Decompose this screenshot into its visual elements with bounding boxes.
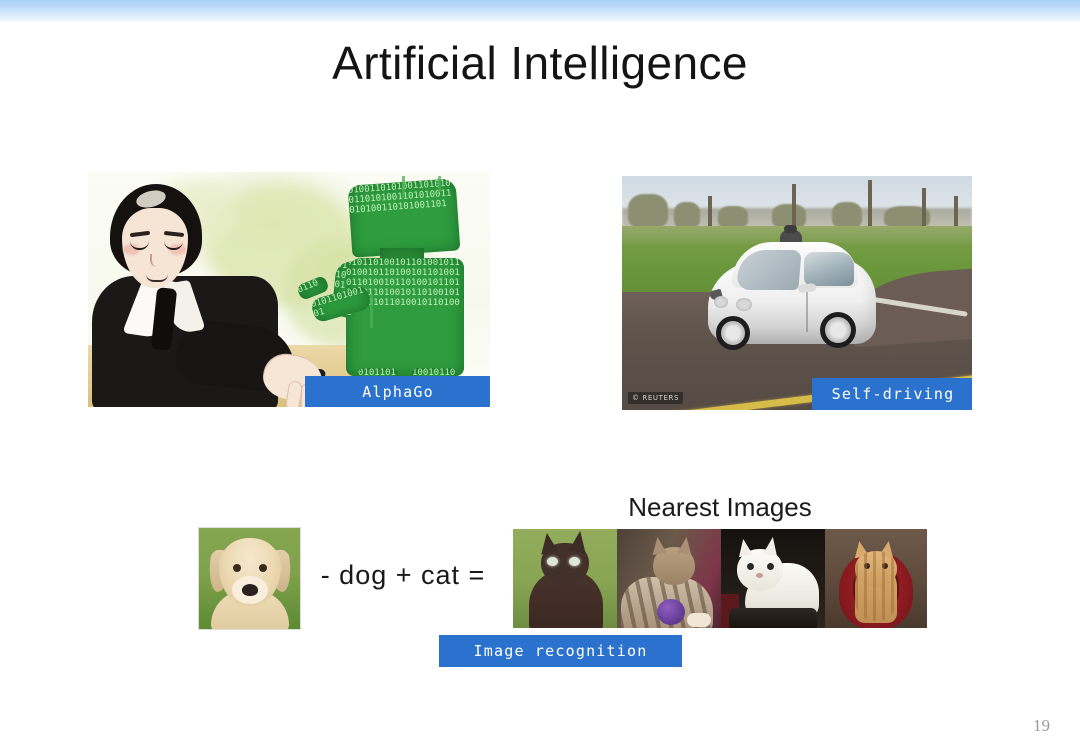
tree [832, 202, 862, 228]
slide-top-accent-band [0, 0, 1080, 22]
cat-eye [767, 563, 774, 570]
car-door-seam [806, 286, 808, 332]
cat-ear [678, 536, 695, 555]
cat-eye [547, 557, 558, 566]
slide-number: 19 [1033, 716, 1050, 736]
wheel-hub [825, 317, 851, 343]
alphago-caption-band: AlphaGo [305, 376, 490, 407]
nearest-images-strip [513, 529, 927, 628]
reuters-watermark: © REUTERS [628, 392, 683, 404]
self-driving-figure: © REUTERS Self-driving [622, 176, 972, 410]
cat-paw [687, 613, 711, 627]
image-recognition-caption-band: Image recognition [439, 635, 682, 667]
tree [718, 206, 748, 228]
dog-eye [233, 564, 241, 572]
black-chair [729, 608, 817, 628]
cat-ear [735, 538, 752, 558]
binary-code-robot: 0100110101001101010011010100110101001101… [306, 176, 484, 402]
cat-ear [763, 536, 780, 557]
car-side-window [804, 252, 854, 286]
cat-ear [537, 531, 558, 554]
purple-ball-toy [657, 599, 685, 625]
car-wheel [820, 312, 856, 348]
vector-arithmetic-equation: - dog + cat = [318, 560, 488, 591]
cat-ear [569, 529, 590, 553]
player-nose [150, 254, 159, 267]
dog-eye [259, 564, 267, 572]
robot-torso: 0101101001011010010110100101101001011010… [346, 258, 464, 376]
nearest-images-heading: Nearest Images [600, 492, 840, 523]
slide-canvas: Artificial Intelligence [0, 0, 1080, 748]
dog-nose [242, 584, 258, 596]
cat-eye [747, 563, 754, 570]
page-title: Artificial Intelligence [0, 36, 1080, 90]
result-image-orange-cat [825, 529, 927, 628]
self-driving-car [708, 242, 880, 354]
result-image-white-cat [721, 529, 825, 628]
car-headlamp [714, 296, 728, 308]
paint-drip [438, 176, 441, 192]
result-image-dark-cat [513, 529, 617, 628]
paint-drip [402, 176, 405, 198]
tree [628, 194, 668, 228]
self-driving-caption-band: Self-driving [812, 378, 972, 410]
alphago-figure: 0100110101001101010011010100110101001101… [88, 172, 490, 407]
wheel-hub [721, 321, 745, 345]
cat-nose [756, 573, 763, 578]
cat-eye [569, 557, 580, 566]
paint-drip [370, 294, 373, 328]
result-image-tabby-cat [617, 529, 721, 628]
cat-ear [650, 536, 667, 555]
cat-stripes [855, 551, 897, 621]
human-go-player [92, 184, 282, 406]
car-wheel [716, 316, 750, 350]
car-headlamp [736, 298, 752, 311]
tree [674, 202, 700, 228]
query-image-dog [199, 528, 300, 629]
